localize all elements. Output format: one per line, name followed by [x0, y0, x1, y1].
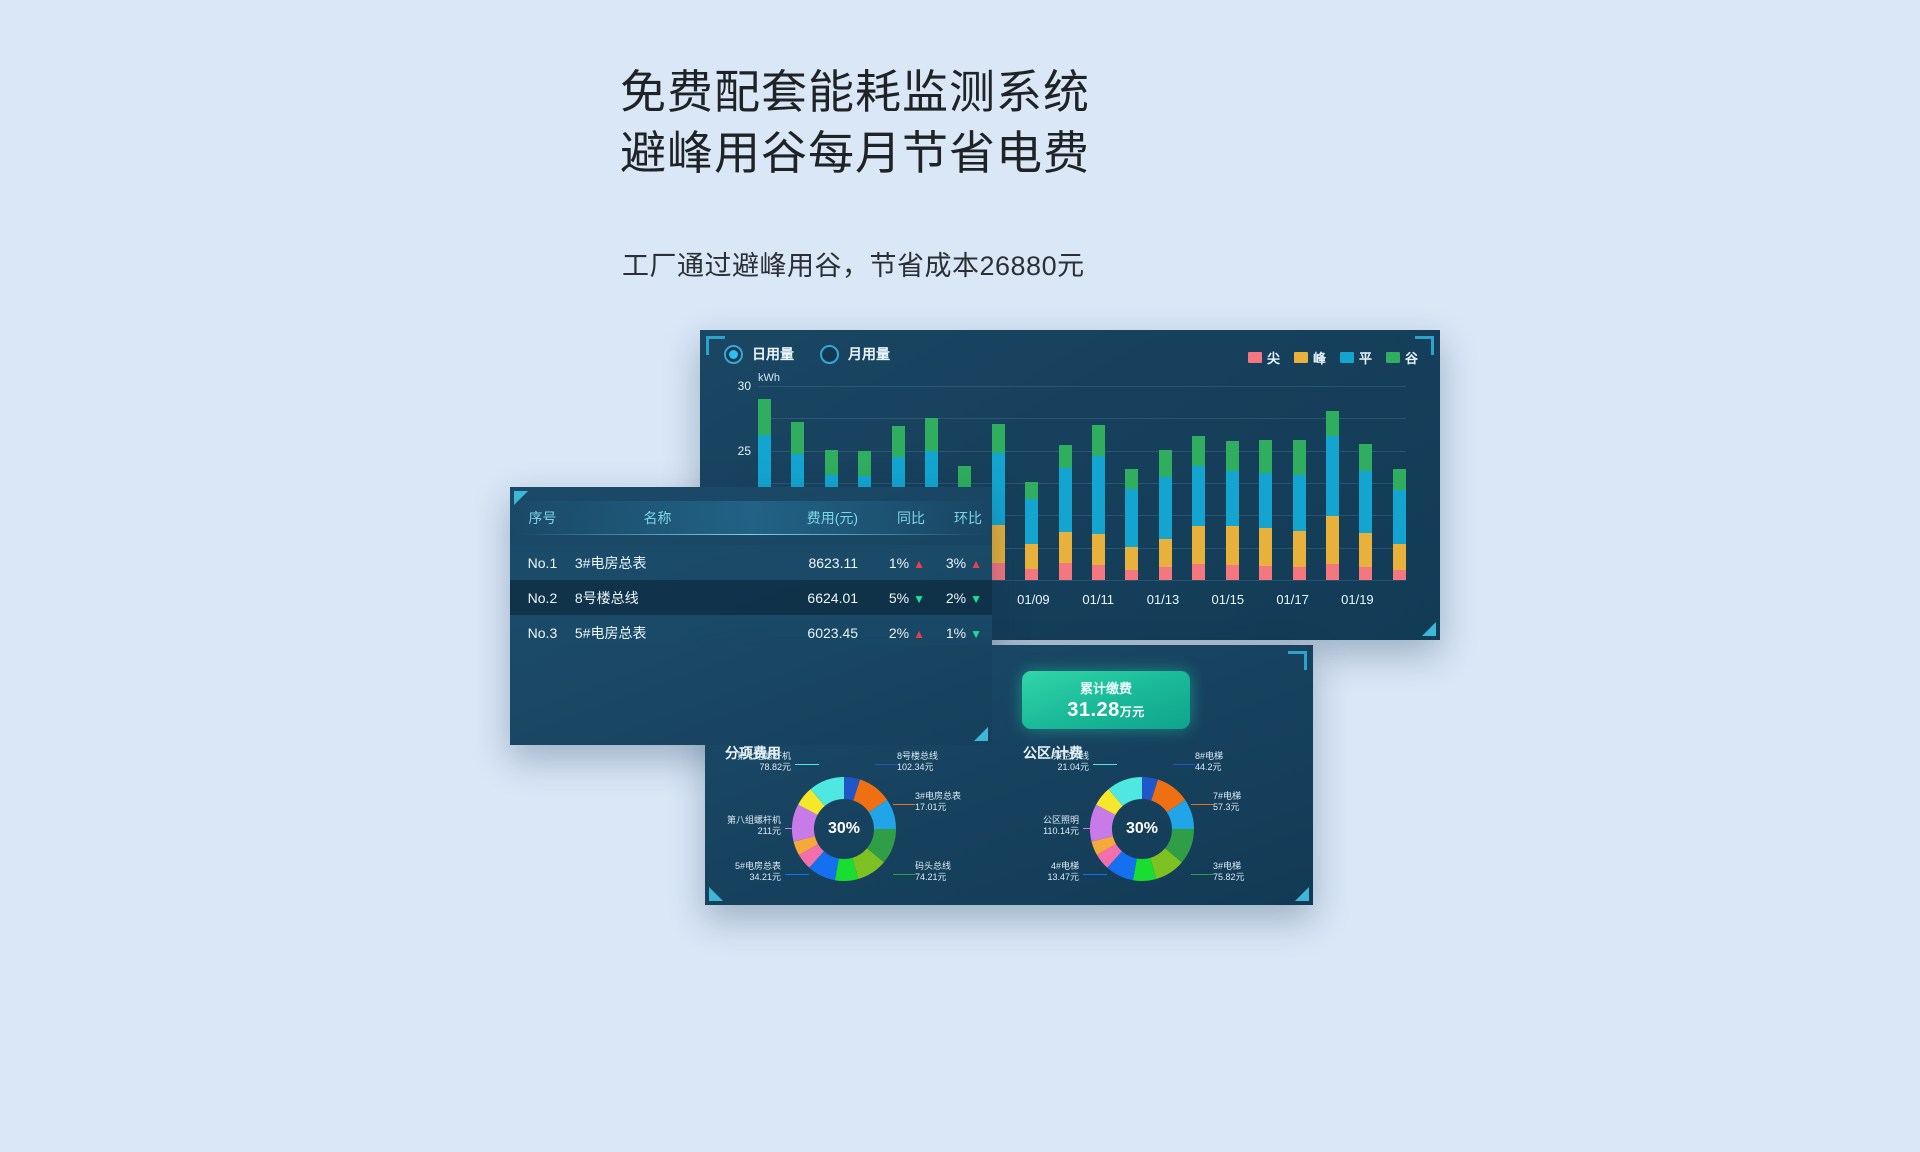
legend-item-尖[interactable]: 尖: [1248, 348, 1280, 367]
donut-label-value: 102.34元: [897, 762, 938, 773]
donut-label-name: 8号楼总线: [897, 751, 938, 762]
bar-segment-平: [992, 453, 1005, 525]
donut-label-value: 17.01元: [915, 802, 961, 813]
trend-arrow-up: ▲: [913, 627, 925, 641]
bar-segment-谷: [758, 399, 771, 435]
donut-label-4#电梯: 4#电梯13.47元: [1047, 861, 1079, 884]
bar-segment-谷: [858, 451, 871, 476]
bar-segment-尖: [1293, 567, 1306, 580]
donut-label-name: 3#电房总表: [915, 791, 961, 802]
donut-leader-line: [1093, 764, 1117, 765]
legend-swatch-谷: [1386, 352, 1400, 363]
table-row[interactable]: No.28号楼总线6624.015%▼2%▼: [510, 580, 992, 615]
card-cumulative-unit: 万元: [1120, 705, 1145, 719]
bar-01/16[interactable]: [1259, 440, 1272, 580]
bar-segment-谷: [1059, 445, 1072, 468]
donut-label-value: 74.21元: [915, 872, 951, 883]
donut-label-value: 13.47元: [1047, 872, 1079, 883]
cell-mom: 2%▼: [925, 590, 992, 606]
donut-leader-line: [1191, 804, 1213, 805]
bar-segment-尖: [1192, 564, 1205, 580]
bar-segment-尖: [1025, 569, 1038, 580]
legend-item-峰[interactable]: 峰: [1294, 348, 1326, 367]
bar-segment-尖: [1259, 566, 1272, 580]
bar-segment-谷: [1393, 469, 1406, 490]
legend-label-尖: 尖: [1267, 348, 1280, 367]
donut-leader-line: [785, 874, 809, 875]
bar-01/09[interactable]: [1025, 482, 1038, 580]
bar-01/20[interactable]: [1393, 469, 1406, 580]
y-axis-unit: kWh: [758, 372, 780, 384]
donut-label-name: 架空分线: [1053, 751, 1089, 762]
page-title: 免费配套能耗监测系统 避峰用谷每月节省电费: [620, 62, 1090, 183]
donut-leader-line: [785, 828, 809, 829]
legend-label-峰: 峰: [1313, 348, 1326, 367]
donut-chart-itemized: 30%8号楼总线102.34元3#电房总表17.01元码头总线74.21元5#电…: [719, 757, 969, 907]
bar-segment-谷: [892, 426, 905, 456]
donut-leader-line: [893, 874, 915, 875]
legend-label-平: 平: [1359, 348, 1372, 367]
usage-mode-radio-group: 日用量 月用量: [724, 344, 890, 364]
donut-label-name: 第七组螺杆机: [737, 751, 791, 762]
donut-label-8#电梯: 8#电梯44.2元: [1195, 751, 1223, 774]
legend-label-谷: 谷: [1405, 348, 1418, 367]
donut-label-name: 第八组螺杆机: [727, 815, 781, 826]
bar-01/10[interactable]: [1059, 445, 1072, 580]
table-header-2[interactable]: 费用(元): [740, 508, 864, 528]
bar-segment-尖: [1226, 565, 1239, 580]
page-title-line1: 免费配套能耗监测系统: [620, 62, 1090, 123]
bottom-corner-triangle-bottom-right: [1295, 887, 1309, 901]
radio-monthly-label: 月用量: [848, 344, 890, 364]
donut-label-name: 5#电房总表: [735, 861, 781, 872]
cell-yoy: 5%▼: [864, 590, 925, 606]
donut-center-value: 30%: [828, 820, 860, 838]
bar-segment-峰: [1159, 539, 1172, 567]
donut-label-value: 211元: [727, 826, 781, 837]
donut-label-7#电梯: 7#电梯57.3元: [1213, 791, 1241, 814]
x-tick-01/09: 01/09: [1017, 592, 1050, 607]
bar-segment-谷: [825, 450, 838, 475]
donut-label-架空分线: 架空分线21.04元: [1053, 751, 1089, 774]
table-header-4[interactable]: 环比: [925, 508, 992, 528]
corner-triangle-bottom-right: [1422, 622, 1436, 636]
donut-label-value: 44.2元: [1195, 762, 1223, 773]
bar-segment-平: [1259, 473, 1272, 529]
card-cumulative-value: 31.28万元: [1067, 699, 1145, 722]
page-title-line2: 避峰用谷每月节省电费: [620, 123, 1090, 184]
bar-01/19[interactable]: [1359, 444, 1372, 580]
bar-segment-尖: [1125, 570, 1138, 580]
poster-stage: 免费配套能耗监测系统 避峰用谷每月节省电费 工厂通过避峰用谷，节省成本26880…: [0, 0, 1920, 1152]
bar-segment-谷: [1025, 482, 1038, 499]
x-tick-01/17: 01/17: [1276, 592, 1309, 607]
bar-segment-平: [1059, 468, 1072, 532]
x-tick-01/19: 01/19: [1341, 592, 1374, 607]
bar-01/15[interactable]: [1226, 441, 1239, 580]
cell-rank: No.3: [510, 625, 575, 641]
bar-segment-峰: [1326, 516, 1339, 565]
y-tick-30: 30: [738, 379, 751, 393]
donut-label-name: 7#电梯: [1213, 791, 1241, 802]
table-header-0[interactable]: 序号: [510, 508, 575, 528]
bar-01/13[interactable]: [1159, 450, 1172, 580]
donut-label-name: 码头总线: [915, 861, 951, 872]
card-cumulative-title: 累计缴费: [1080, 678, 1132, 697]
bar-segment-尖: [992, 563, 1005, 580]
donut-center-value: 30%: [1126, 820, 1158, 838]
y-tick-25: 25: [738, 444, 751, 458]
bar-segment-平: [1326, 436, 1339, 516]
donut-label-value: 78.82元: [737, 762, 791, 773]
radio-daily-usage[interactable]: 日用量: [724, 344, 794, 364]
donut-label-value: 57.3元: [1213, 802, 1241, 813]
cell-rank: No.1: [510, 555, 575, 571]
bar-segment-尖: [1393, 570, 1406, 580]
bar-segment-谷: [925, 418, 938, 450]
legend-swatch-尖: [1248, 352, 1262, 363]
donut-label-name: 公区照明: [1043, 815, 1079, 826]
trend-arrow-down: ▼: [970, 627, 982, 641]
cell-mom: 3%▲: [925, 555, 992, 571]
trend-arrow-up: ▲: [970, 557, 982, 571]
bar-01/18[interactable]: [1326, 411, 1339, 580]
bar-segment-平: [1359, 471, 1372, 533]
bar-segment-尖: [1326, 564, 1339, 580]
bottom-corner-top-right: [1288, 651, 1307, 670]
cell-yoy: 2%▲: [864, 625, 925, 641]
donut-label-value: 110.14元: [1043, 826, 1079, 837]
cell-rank: No.2: [510, 590, 575, 606]
card-cumulative-number: 31.28: [1067, 699, 1120, 721]
bar-segment-谷: [791, 422, 804, 454]
radio-monthly-indicator: [820, 345, 839, 364]
cell-name: 5#电房总表: [575, 623, 740, 643]
bar-segment-谷: [992, 424, 1005, 453]
cell-name: 3#电房总表: [575, 553, 740, 573]
donut-label-name: 4#电梯: [1047, 861, 1079, 872]
table-row[interactable]: No.13#电房总表8623.111%▲3%▲: [510, 545, 992, 580]
donut-label-3#电房总表: 3#电房总表17.01元: [915, 791, 961, 814]
bar-segment-峰: [1393, 544, 1406, 569]
bar-segment-谷: [1192, 436, 1205, 465]
bar-segment-谷: [1092, 425, 1105, 456]
bar-segment-尖: [1159, 567, 1172, 580]
donut-leader-line: [1191, 874, 1213, 875]
donut-label-value: 34.21元: [735, 872, 781, 883]
donut-label-value: 75.82元: [1213, 872, 1245, 883]
bar-segment-峰: [1092, 534, 1105, 565]
bar-segment-谷: [1359, 444, 1372, 471]
table-header-3[interactable]: 同比: [864, 508, 925, 528]
page-subtitle: 工厂通过避峰用谷，节省成本26880元: [622, 244, 1085, 283]
bar-segment-平: [1393, 490, 1406, 544]
donut-leader-line: [875, 764, 897, 765]
card-cumulative-payment[interactable]: 累计缴费 31.28万元: [1022, 671, 1190, 729]
donut-leader-line: [1083, 828, 1107, 829]
bar-segment-峰: [992, 525, 1005, 563]
legend-swatch-平: [1340, 352, 1354, 363]
donut-leader-line: [893, 804, 915, 805]
bar-segment-峰: [1359, 533, 1372, 567]
cell-yoy: 1%▲: [864, 555, 925, 571]
x-tick-01/13: 01/13: [1147, 592, 1180, 607]
donut-label-name: 3#电梯: [1213, 861, 1245, 872]
bar-segment-尖: [1059, 563, 1072, 580]
donut-label-第七组螺杆机: 第七组螺杆机78.82元: [737, 751, 791, 774]
bar-segment-峰: [1192, 526, 1205, 565]
cell-name: 8号楼总线: [575, 588, 740, 608]
chart-legend: 尖峰平谷: [1248, 348, 1418, 367]
bar-segment-尖: [1359, 567, 1372, 580]
radio-daily-label: 日用量: [752, 344, 794, 364]
legend-item-平[interactable]: 平: [1340, 348, 1372, 367]
table-panel-overlap-mask: [510, 645, 992, 745]
donut-leader-line: [1083, 874, 1107, 875]
cell-fee: 8623.11: [740, 555, 864, 571]
trend-arrow-down: ▼: [913, 592, 925, 606]
bar-segment-谷: [1326, 411, 1339, 437]
bar-01/12[interactable]: [1125, 469, 1138, 580]
donut-label-第八组螺杆机: 第八组螺杆机211元: [727, 815, 781, 838]
trend-arrow-down: ▼: [970, 592, 982, 606]
table-header-1[interactable]: 名称: [575, 508, 740, 528]
donut-leader-line: [795, 764, 819, 765]
trend-arrow-up: ▲: [913, 557, 925, 571]
x-tick-01/11: 01/11: [1082, 592, 1114, 607]
donut-label-码头总线: 码头总线74.21元: [915, 861, 951, 884]
bar-segment-平: [1293, 475, 1306, 531]
donut-chart-public: 30%8#电梯44.2元7#电梯57.3元3#电梯75.82元4#电梯13.47…: [1017, 757, 1267, 907]
bar-segment-尖: [1092, 565, 1105, 580]
donut-label-5#电房总表: 5#电房总表34.21元: [735, 861, 781, 884]
bar-segment-谷: [1226, 441, 1239, 471]
bar-segment-平: [1159, 477, 1172, 539]
x-tick-01/15: 01/15: [1212, 592, 1245, 607]
cell-fee: 6023.45: [740, 625, 864, 641]
bar-segment-谷: [1259, 440, 1272, 472]
donut-label-公区照明: 公区照明110.14元: [1043, 815, 1079, 838]
bar-segment-峰: [1259, 528, 1272, 566]
table-header-row: 序号名称费用(元)同比环比: [510, 501, 992, 535]
bar-01/08[interactable]: [992, 424, 1005, 580]
bar-segment-谷: [1293, 440, 1306, 475]
bar-segment-平: [1125, 489, 1138, 547]
bar-segment-峰: [1059, 532, 1072, 564]
donut-label-name: 8#电梯: [1195, 751, 1223, 762]
bar-segment-峰: [1293, 531, 1306, 567]
cell-fee: 6624.01: [740, 590, 864, 606]
corner-accent-top-left: [706, 336, 725, 355]
bar-segment-谷: [1159, 450, 1172, 477]
cell-mom: 1%▼: [925, 625, 992, 641]
bar-segment-峰: [1226, 526, 1239, 565]
donut-label-value: 21.04元: [1053, 762, 1089, 773]
donut-leader-line: [1173, 764, 1195, 765]
bar-01/14[interactable]: [1192, 436, 1205, 580]
radio-daily-indicator: [724, 345, 743, 364]
bar-segment-谷: [958, 466, 971, 489]
bar-segment-平: [1192, 466, 1205, 526]
legend-swatch-峰: [1294, 352, 1308, 363]
radio-monthly-usage[interactable]: 月用量: [820, 344, 890, 364]
bar-segment-平: [1226, 471, 1239, 527]
legend-item-谷[interactable]: 谷: [1386, 348, 1418, 367]
bar-segment-谷: [1125, 469, 1138, 488]
bar-segment-平: [1025, 499, 1038, 544]
bar-segment-峰: [1025, 544, 1038, 569]
donut-label-8号楼总线: 8号楼总线102.34元: [897, 751, 938, 774]
bar-01/11[interactable]: [1092, 425, 1105, 580]
bar-segment-平: [1092, 456, 1105, 534]
bar-segment-峰: [1125, 547, 1138, 570]
bar-01/17[interactable]: [1293, 440, 1306, 580]
donut-label-3#电梯: 3#电梯75.82元: [1213, 861, 1245, 884]
